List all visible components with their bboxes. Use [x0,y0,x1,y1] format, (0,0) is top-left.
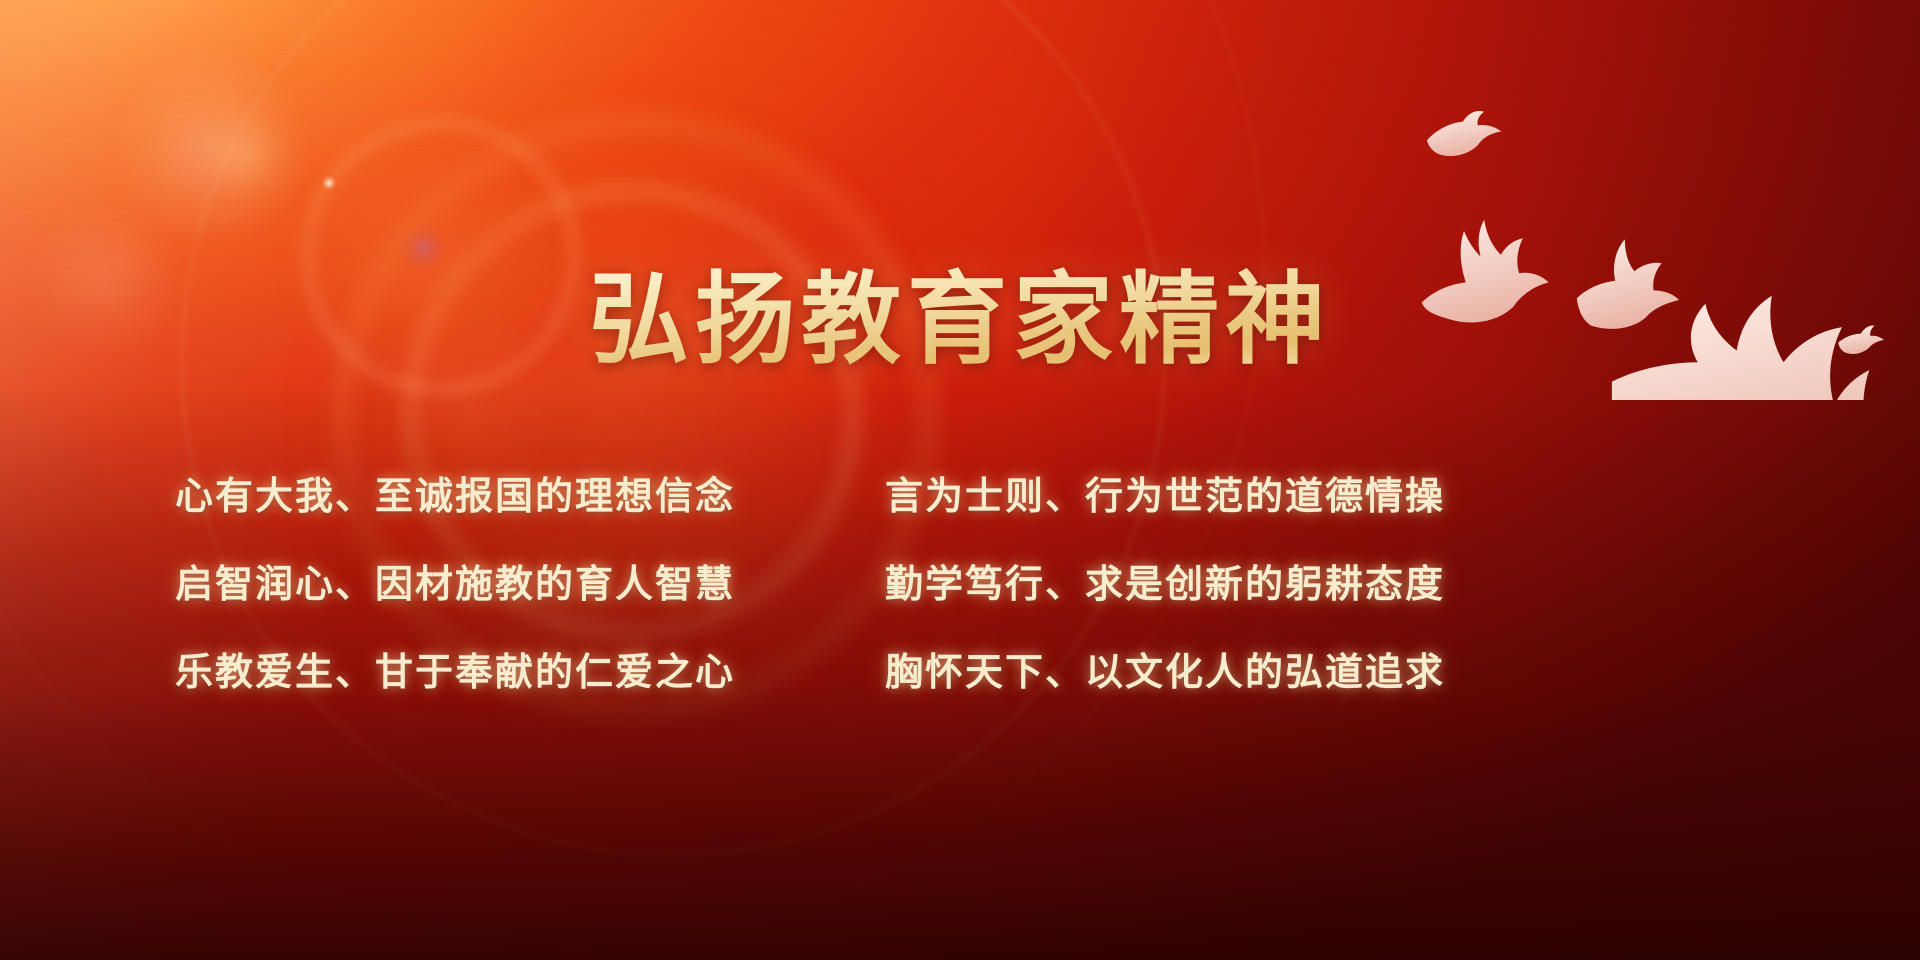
slogan-cell-row2-right: 勤学笃行、求是创新的躬耕态度 [840,536,1490,624]
slogan-cell-row1-left: 心有大我、至诚报国的理想信念 [130,448,780,536]
dove-icon-small-upper [1427,111,1501,156]
slogan-cell-row3-right: 胸怀天下、以文化人的弘道追求 [840,624,1490,712]
banner-canvas: 弘扬教育家精神 心有大我、至诚报国的理想信念 言为士则、行为世范的道德情操 启智… [0,0,1920,960]
title-block: 弘扬教育家精神 [0,200,1920,442]
slogan-grid: 心有大我、至诚报国的理想信念 言为士则、行为世范的道德情操 启智润心、因材施教的… [130,448,1490,712]
page-title: 弘扬教育家精神 [589,267,1331,375]
slogan-cell-row2-left: 启智润心、因材施教的育人智慧 [130,536,780,624]
slogan-text-row1-left: 心有大我、至诚报国的理想信念 [175,465,735,520]
slogan-text-row2-right: 勤学笃行、求是创新的躬耕态度 [885,553,1445,608]
lens-flare-bright-point [322,176,336,190]
lens-flare-circle-2 [196,104,296,204]
slogan-text-row3-right: 胸怀天下、以文化人的弘道追求 [885,641,1445,696]
slogan-text-row2-left: 启智润心、因材施教的育人智慧 [175,553,735,608]
slogan-text-row1-right: 言为士则、行为世范的道德情操 [885,465,1445,520]
slogan-cell-row3-left: 乐教爱生、甘于奉献的仁爱之心 [130,624,780,712]
slogan-cell-row1-right: 言为士则、行为世范的道德情操 [840,448,1490,536]
slogan-text-row3-left: 乐教爱生、甘于奉献的仁爱之心 [175,641,735,696]
